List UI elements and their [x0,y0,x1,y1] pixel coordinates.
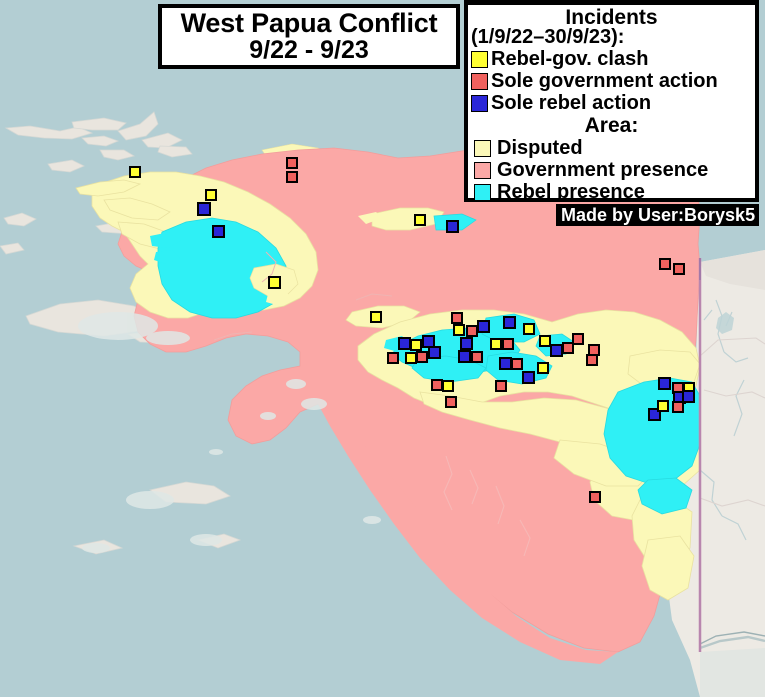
incident-marker-clash [410,339,422,351]
legend-item-clash: Rebel-gov. clash [468,48,755,70]
legend-swatch-disputed-icon [474,140,491,157]
incident-marker-government [495,380,507,392]
legend-swatch-rebel-presence-icon [474,184,491,201]
attribution-banner: Made by User:Borysk5 [556,204,759,226]
legend-label-government: Government presence [497,160,708,180]
incident-marker-rebel [212,225,225,238]
map-title-line1: West Papua Conflict [181,10,438,38]
incident-marker-government [286,171,298,183]
map-container: West Papua Conflict 9/22 - 9/23 Incident… [0,0,765,697]
legend-swatch-government-icon [474,162,491,179]
legend-item-rebel: Sole rebel action [468,92,755,114]
incident-marker-rebel [398,337,411,350]
legend-incidents-period: (1/9/22–30/9/23): [468,27,755,48]
incident-marker-clash [490,338,502,350]
legend-area-title: Area: [468,115,755,137]
incident-marker-government [502,338,514,350]
incident-marker-rebel [499,357,512,370]
legend-incidents-title: Incidents [468,7,755,28]
incident-marker-rebel [503,316,516,329]
incident-marker-clash [414,214,426,226]
incident-marker-clash [205,189,217,201]
map-title-card: West Papua Conflict 9/22 - 9/23 [158,4,460,69]
incident-marker-government [451,312,463,324]
incident-marker-clash [537,362,549,374]
incident-marker-rebel [550,344,563,357]
incident-marker-government [659,258,671,270]
incident-marker-clash [268,276,281,289]
incident-marker-rebel [197,202,211,216]
incident-marker-government [673,263,685,275]
incident-marker-government [562,342,574,354]
incident-marker-rebel [658,377,671,390]
incident-marker-government [466,325,478,337]
legend-label-disputed: Disputed [497,138,583,158]
incident-marker-clash [453,324,465,336]
incident-marker-clash [370,311,382,323]
incident-marker-government [286,157,298,169]
incident-marker-government [416,351,428,363]
incident-marker-rebel [477,320,490,333]
legend-label-clash: Rebel-gov. clash [491,49,648,69]
legend-label-rebel: Sole rebel action [491,93,651,113]
incident-marker-clash [523,323,535,335]
incident-marker-rebel [458,350,471,363]
incident-marker-rebel [446,220,459,233]
legend-label-rebel-presence: Rebel presence [497,182,645,202]
incident-marker-rebel [460,337,473,350]
legend-swatch-gov-icon [471,73,488,90]
incident-marker-clash [442,380,454,392]
legend-swatch-rebel-icon [471,95,488,112]
map-title-line2: 9/22 - 9/23 [249,38,369,64]
incident-marker-government [445,396,457,408]
legend-item-government: Government presence [468,159,755,181]
incident-marker-government [387,352,399,364]
incident-marker-clash [657,400,669,412]
incident-marker-rebel [428,346,441,359]
legend-item-gov: Sole government action [468,70,755,92]
incident-marker-government [672,401,684,413]
legend-item-rebel-presence: Rebel presence [468,181,755,203]
incident-marker-government [511,358,523,370]
incident-marker-government [589,491,601,503]
incident-marker-rebel [522,371,535,384]
legend-swatch-clash-icon [471,51,488,68]
incident-marker-government [471,351,483,363]
legend-label-gov: Sole government action [491,71,718,91]
incident-marker-clash [129,166,141,178]
legend-card: Incidents (1/9/22–30/9/23): Rebel-gov. c… [464,0,759,202]
legend-item-disputed: Disputed [468,137,755,159]
incident-marker-government [586,354,598,366]
